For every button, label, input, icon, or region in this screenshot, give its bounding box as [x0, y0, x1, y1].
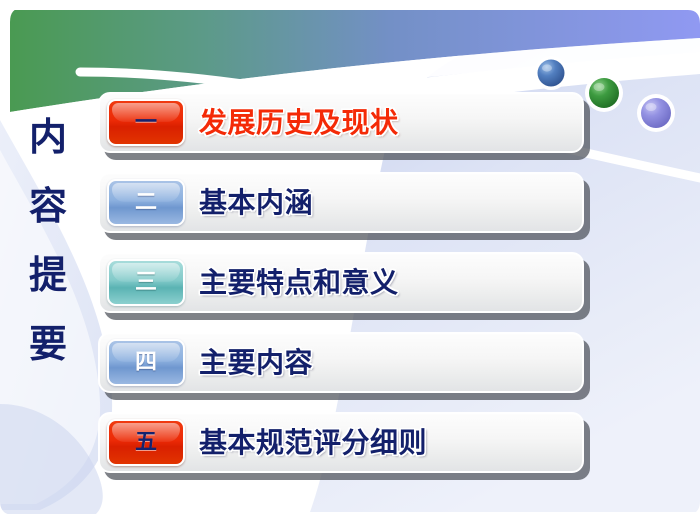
agenda-row-5[interactable]: 五 基本规范评分细则	[98, 412, 590, 476]
agenda-bar[interactable]: 二 基本内涵	[98, 172, 584, 233]
agenda-badge-number: 一	[135, 112, 157, 134]
agenda-bar[interactable]: 四 主要内容	[98, 332, 584, 393]
agenda-label-1: 发展历史及现状	[199, 109, 399, 137]
agenda-badge-number: 二	[135, 192, 157, 214]
vertical-title-char-3: 提	[29, 256, 67, 294]
agenda-badge-2[interactable]: 二	[107, 179, 185, 226]
agenda-label-2: 基本内涵	[199, 189, 313, 217]
agenda-badge-4[interactable]: 四	[107, 339, 185, 386]
vertical-title: 内 容 提 要	[20, 118, 76, 363]
sphere-blue	[534, 56, 568, 90]
agenda-bar[interactable]: 三 主要特点和意义	[98, 252, 584, 313]
agenda-badge-5[interactable]: 五	[107, 419, 185, 466]
agenda-label-4: 主要内容	[199, 349, 313, 377]
agenda-badge-3[interactable]: 三	[107, 259, 185, 306]
agenda-bar[interactable]: 一 发展历史及现状	[98, 92, 584, 153]
agenda-label-5: 基本规范评分细则	[199, 429, 427, 457]
agenda-badge-number: 五	[135, 432, 157, 454]
agenda-badge-1[interactable]: 一	[107, 99, 185, 146]
sphere-green	[585, 74, 623, 112]
agenda-row-1[interactable]: 一 发展历史及现状	[98, 92, 590, 156]
slide-canvas: 内 容 提 要 一 发展历史及现状 二 基本	[0, 0, 700, 525]
vertical-title-char-1: 内	[29, 118, 67, 156]
vertical-title-char-2: 容	[29, 187, 67, 225]
sphere-purple	[637, 94, 675, 132]
agenda-row-3[interactable]: 三 主要特点和意义	[98, 252, 590, 316]
agenda-list: 一 发展历史及现状 二 基本内涵 三	[98, 92, 590, 476]
agenda-badge-number: 三	[135, 272, 157, 294]
agenda-row-2[interactable]: 二 基本内涵	[98, 172, 590, 236]
agenda-bar[interactable]: 五 基本规范评分细则	[98, 412, 584, 473]
agenda-badge-number: 四	[135, 352, 157, 374]
agenda-row-4[interactable]: 四 主要内容	[98, 332, 590, 396]
agenda-label-3: 主要特点和意义	[199, 269, 399, 297]
vertical-title-char-4: 要	[29, 325, 67, 363]
